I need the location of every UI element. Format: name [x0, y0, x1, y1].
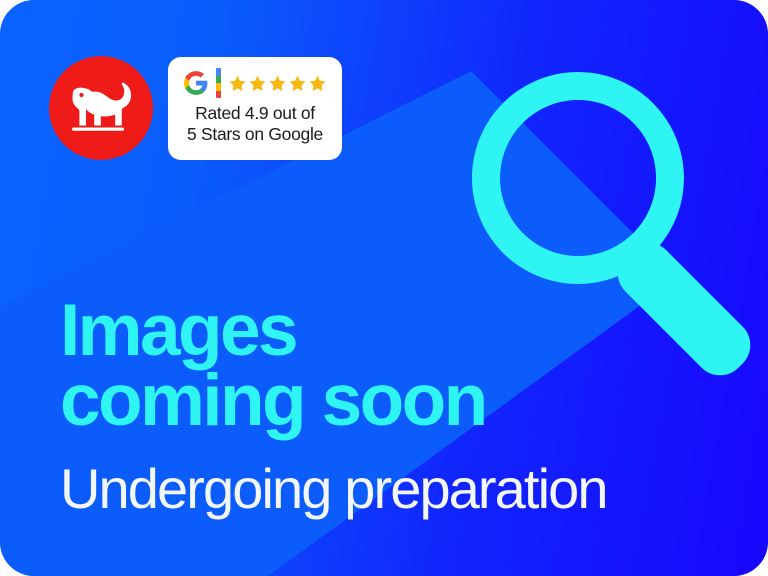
badge-rating-row — [183, 66, 327, 100]
star-icon — [308, 74, 327, 93]
dog-icon — [64, 75, 138, 141]
headline-line-2: coming soon — [60, 366, 720, 436]
star-rating — [228, 74, 327, 93]
star-icon — [288, 74, 307, 93]
star-icon — [248, 74, 267, 93]
brand-logo — [49, 56, 153, 160]
badge-caption: Rated 4.9 out of 5 Stars on Google — [187, 103, 323, 144]
star-icon — [268, 74, 287, 93]
badge-caption-line1: Rated 4.9 out of — [187, 103, 323, 124]
google-review-badge[interactable]: Rated 4.9 out of 5 Stars on Google — [168, 57, 342, 160]
subheadline: Undergoing preparation — [60, 459, 607, 518]
image-placeholder-card: Rated 4.9 out of 5 Stars on Google Image… — [0, 0, 768, 576]
headline: Images coming soon — [60, 296, 720, 436]
google-color-bar-icon — [216, 68, 221, 98]
google-g-icon — [183, 70, 209, 96]
headline-line-1: Images — [60, 296, 720, 366]
badge-caption-line2: 5 Stars on Google — [187, 124, 323, 145]
star-icon — [228, 74, 247, 93]
